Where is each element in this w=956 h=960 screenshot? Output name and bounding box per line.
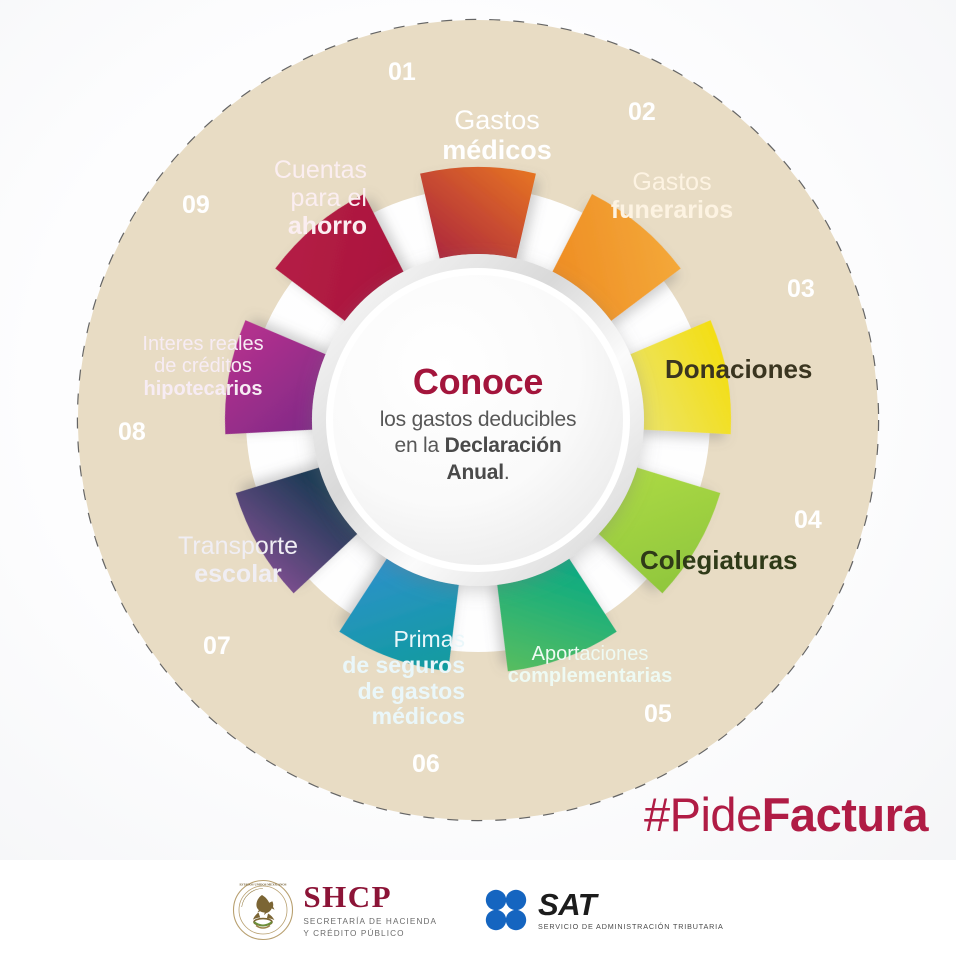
hashtag-light-part: #Pide (644, 788, 762, 841)
svg-text:ESTADOS UNIDOS MEXICANOS: ESTADOS UNIDOS MEXICANOS (240, 882, 287, 886)
shcp-text-block: SHCP SECRETARÍA DE HACIENDA Y CRÉDITO PÚ… (303, 881, 437, 940)
shcp-subtitle-line-2: Y CRÉDITO PÚBLICO (303, 928, 437, 940)
shcp-logo: ESTADOS UNIDOS MEXICANOS SHCP SECRETARÍA… (232, 879, 437, 941)
sat-wordmark: SAT (538, 889, 724, 920)
mexican-eagle-seal-icon: ESTADOS UNIDOS MEXICANOS (232, 879, 294, 941)
infographic-poster: Conoce los gastos deducibles en la Decla… (0, 0, 956, 960)
sat-subtitle: SERVICIO DE ADMINISTRACIÓN TRIBUTARIA (538, 923, 724, 930)
four-dots-mark-icon (483, 887, 529, 933)
sat-logo: SAT SERVICIO DE ADMINISTRACIÓN TRIBUTARI… (483, 887, 724, 933)
logo-bar: ESTADOS UNIDOS MEXICANOS SHCP SECRETARÍA… (0, 860, 956, 960)
hashtag-bold-part: Factura (762, 788, 928, 841)
shcp-wordmark: SHCP (303, 881, 437, 912)
shcp-subtitle-line-1: SECRETARÍA DE HACIENDA (303, 916, 437, 928)
center-hub (312, 254, 644, 586)
shcp-subtitle: SECRETARÍA DE HACIENDA Y CRÉDITO PÚBLICO (303, 916, 437, 940)
sat-text-block: SAT SERVICIO DE ADMINISTRACIÓN TRIBUTARI… (538, 889, 724, 930)
hashtag-pide-factura: #PideFactura (644, 787, 928, 842)
wheel-segment-01[interactable] (420, 167, 536, 259)
